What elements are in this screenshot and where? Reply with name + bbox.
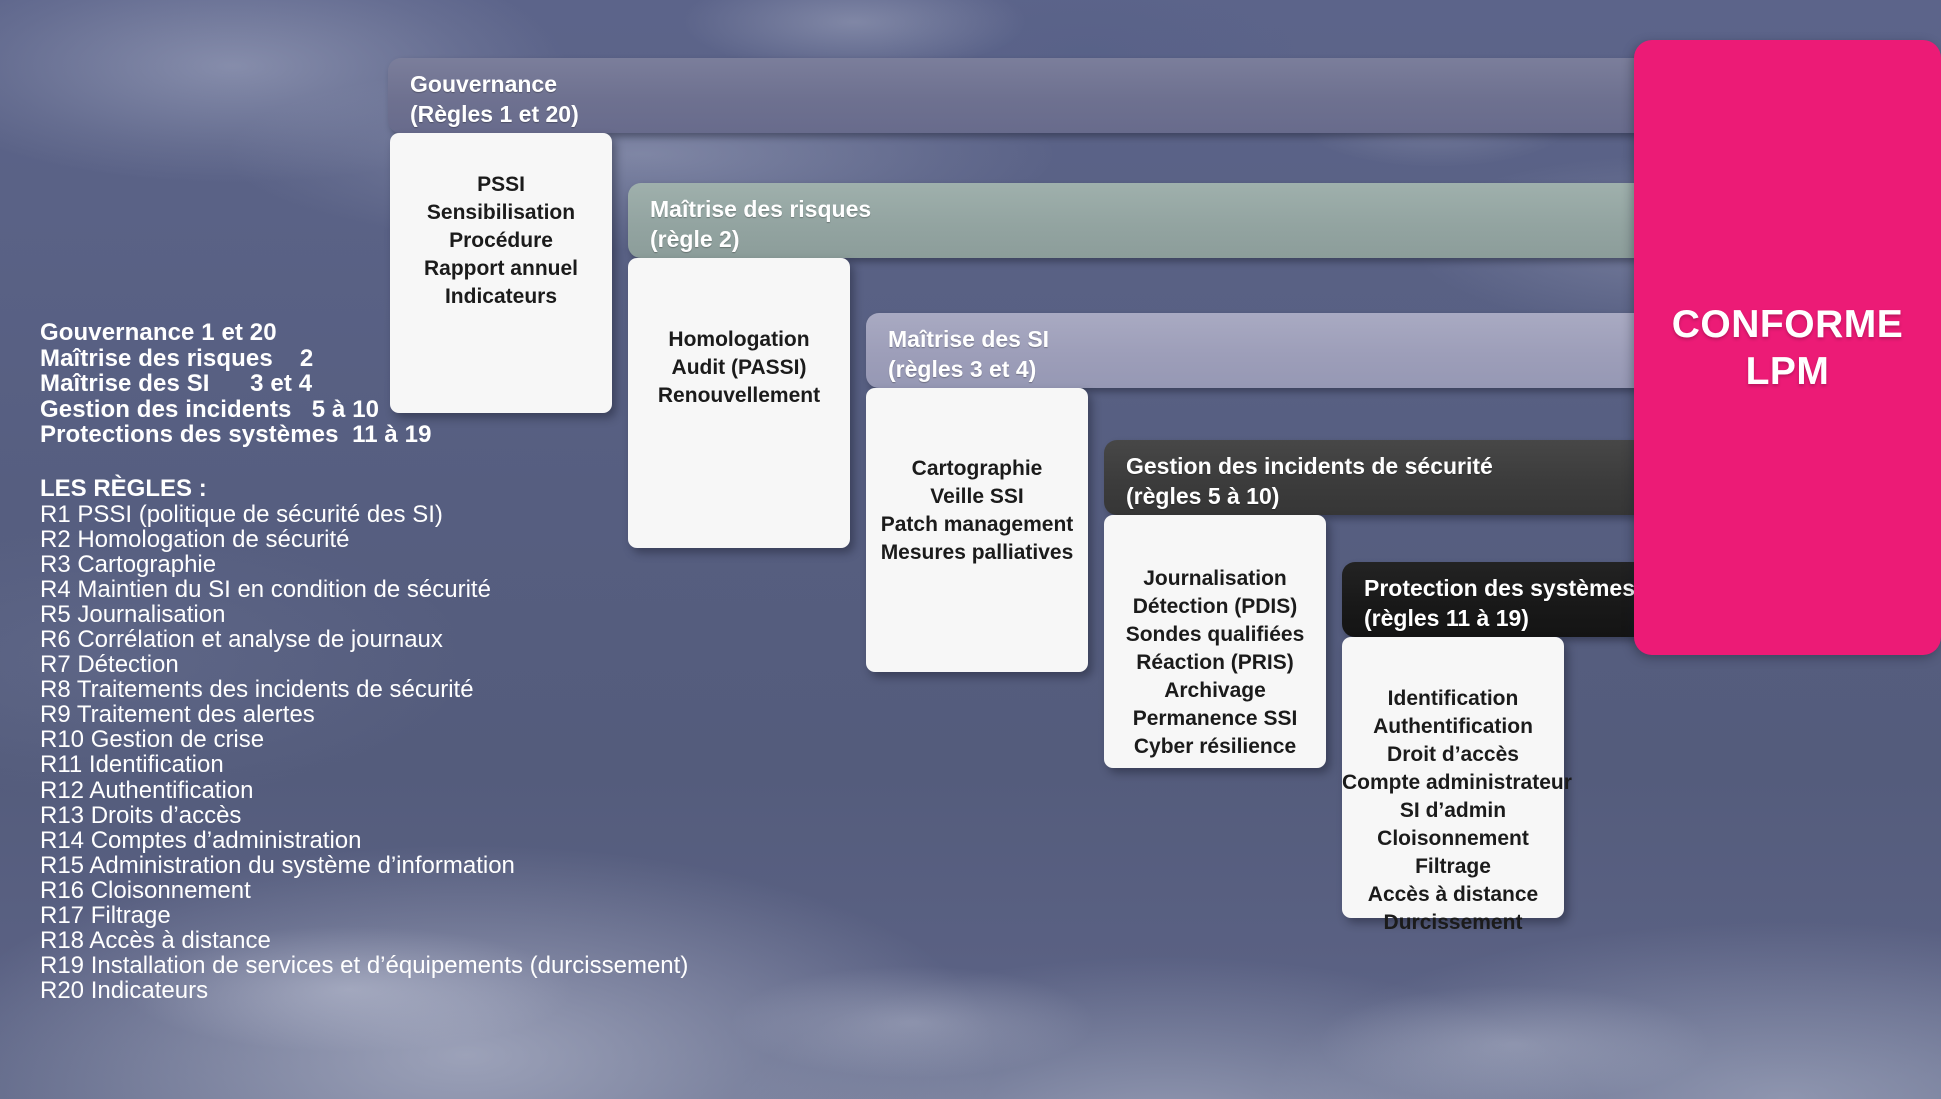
pillar-banner-gestion-des-incidents: Gestion des incidents de sécurité (règle… (1104, 440, 1641, 515)
summary-line: Gestion des incidents 5 à 10 (40, 396, 379, 423)
card-item: Droit d’accès (1342, 741, 1564, 769)
banner-title: Maîtrise des risques (650, 196, 871, 222)
pillar-card-gouvernance: PSSI Sensibilisation Procédure Rapport a… (390, 133, 612, 413)
card-item: PSSI (390, 171, 612, 199)
list-item: R15 Administration du système d’informat… (40, 852, 515, 879)
card-item: Durcissement (1342, 909, 1564, 937)
banner-subtitle: (Règles 1 et 20) (410, 99, 1641, 129)
card-item: Mesures palliatives (866, 539, 1088, 567)
card-item: Cloisonnement (1342, 825, 1564, 853)
conforme-line-2: LPM (1672, 348, 1904, 395)
list-item: R16 Cloisonnement (40, 877, 251, 904)
card-item-list: Cartographie Veille SSI Patch management… (866, 455, 1088, 567)
banner-subtitle: (règle 2) (650, 224, 1641, 254)
list-item: R19 Installation de services et d’équipe… (40, 952, 688, 979)
pillar-banner-gouvernance: Gouvernance (Règles 1 et 20) (388, 58, 1641, 133)
card-item: SI d’admin (1342, 797, 1564, 825)
card-item: Procédure (390, 227, 612, 255)
pillar-card-gestion-des-incidents: Journalisation Détection (PDIS) Sondes q… (1104, 515, 1326, 768)
banner-subtitle: (règles 3 et 4) (888, 354, 1641, 384)
list-item: R2 Homologation de sécurité (40, 526, 350, 553)
card-item: Indicateurs (390, 283, 612, 311)
card-item: Rapport annuel (390, 255, 612, 283)
list-item: R13 Droits d’accès (40, 802, 241, 829)
card-item: Authentification (1342, 713, 1564, 741)
card-item: Réaction (PRIS) (1104, 649, 1326, 677)
banner-subtitle: (règles 11 à 19) (1364, 603, 1641, 633)
summary-line: Gouvernance 1 et 20 (40, 319, 277, 346)
pillar-banner-protection-des-systemes: Protection des systèmes (règles 11 à 19) (1342, 562, 1641, 637)
banner-title: Protection des systèmes (1364, 575, 1635, 601)
list-item: R8 Traitements des incidents de sécurité (40, 676, 474, 703)
summary-line: Maîtrise des SI 3 et 4 (40, 370, 312, 397)
list-item: R11 Identification (40, 751, 224, 778)
pillar-card-maitrise-des-si: Cartographie Veille SSI Patch management… (866, 388, 1088, 672)
conforme-line-1: CONFORME (1672, 301, 1904, 348)
pillar-banner-maitrise-des-si: Maîtrise des SI (règles 3 et 4) (866, 313, 1641, 388)
card-item: Sensibilisation (390, 199, 612, 227)
card-item: Audit (PASSI) (628, 354, 850, 382)
card-item: Archivage (1104, 677, 1326, 705)
card-item: Cartographie (866, 455, 1088, 483)
summary-line: Protections des systèmes 11 à 19 (40, 421, 432, 448)
card-item: Sondes qualifiées (1104, 621, 1326, 649)
card-item: Homologation (628, 326, 850, 354)
card-item: Patch management (866, 511, 1088, 539)
list-item: R10 Gestion de crise (40, 726, 264, 753)
card-item: Compte administrateur (1342, 769, 1564, 797)
card-item: Renouvellement (628, 382, 850, 410)
list-item: R4 Maintien du SI en condition de sécuri… (40, 576, 491, 603)
list-item: R1 PSSI (politique de sécurité des SI) (40, 501, 443, 528)
pillar-banner-maitrise-des-risques: Maîtrise des risques (règle 2) (628, 183, 1641, 258)
list-item: R12 Authentification (40, 777, 253, 804)
list-item: R9 Traitement des alertes (40, 701, 315, 728)
pillar-card-maitrise-des-risques: Homologation Audit (PASSI) Renouvellemen… (628, 258, 850, 548)
card-item-list: PSSI Sensibilisation Procédure Rapport a… (390, 171, 612, 311)
card-item-list: Homologation Audit (PASSI) Renouvellemen… (628, 326, 850, 410)
slide-canvas: Gouvernance 1 et 20 Maîtrise des risques… (0, 0, 1941, 1099)
card-item: Identification (1342, 685, 1564, 713)
list-item: R3 Cartographie (40, 551, 216, 578)
list-item: R20 Indicateurs (40, 977, 208, 1004)
card-item: Permanence SSI (1104, 705, 1326, 733)
list-item: R18 Accès à distance (40, 927, 271, 954)
banner-subtitle: (règles 5 à 10) (1126, 481, 1641, 511)
card-item: Veille SSI (866, 483, 1088, 511)
summary-line: Maîtrise des risques 2 (40, 345, 313, 372)
banner-title: Maîtrise des SI (888, 326, 1049, 352)
card-item: Cyber résilience (1104, 733, 1326, 761)
conforme-label: CONFORME LPM (1672, 301, 1904, 395)
conforme-lpm-panel: CONFORME LPM (1634, 40, 1941, 655)
list-item: R17 Filtrage (40, 902, 171, 929)
rules-list: R1 PSSI (politique de sécurité des SI) R… (40, 502, 800, 1004)
banner-title: Gestion des incidents de sécurité (1126, 453, 1493, 479)
card-item: Filtrage (1342, 853, 1564, 881)
list-item: R14 Comptes d’administration (40, 827, 361, 854)
card-item-list: Identification Authentification Droit d’… (1342, 685, 1564, 937)
card-item: Accès à distance (1342, 881, 1564, 909)
banner-title: Gouvernance (410, 71, 557, 97)
card-item: Détection (PDIS) (1104, 593, 1326, 621)
list-item: R6 Corrélation et analyse de journaux (40, 626, 443, 653)
pillar-card-protection-des-systemes: Identification Authentification Droit d’… (1342, 637, 1564, 918)
card-item-list: Journalisation Détection (PDIS) Sondes q… (1104, 565, 1326, 761)
list-item: R7 Détection (40, 651, 179, 678)
card-item: Journalisation (1104, 565, 1326, 593)
list-item: R5 Journalisation (40, 601, 225, 628)
